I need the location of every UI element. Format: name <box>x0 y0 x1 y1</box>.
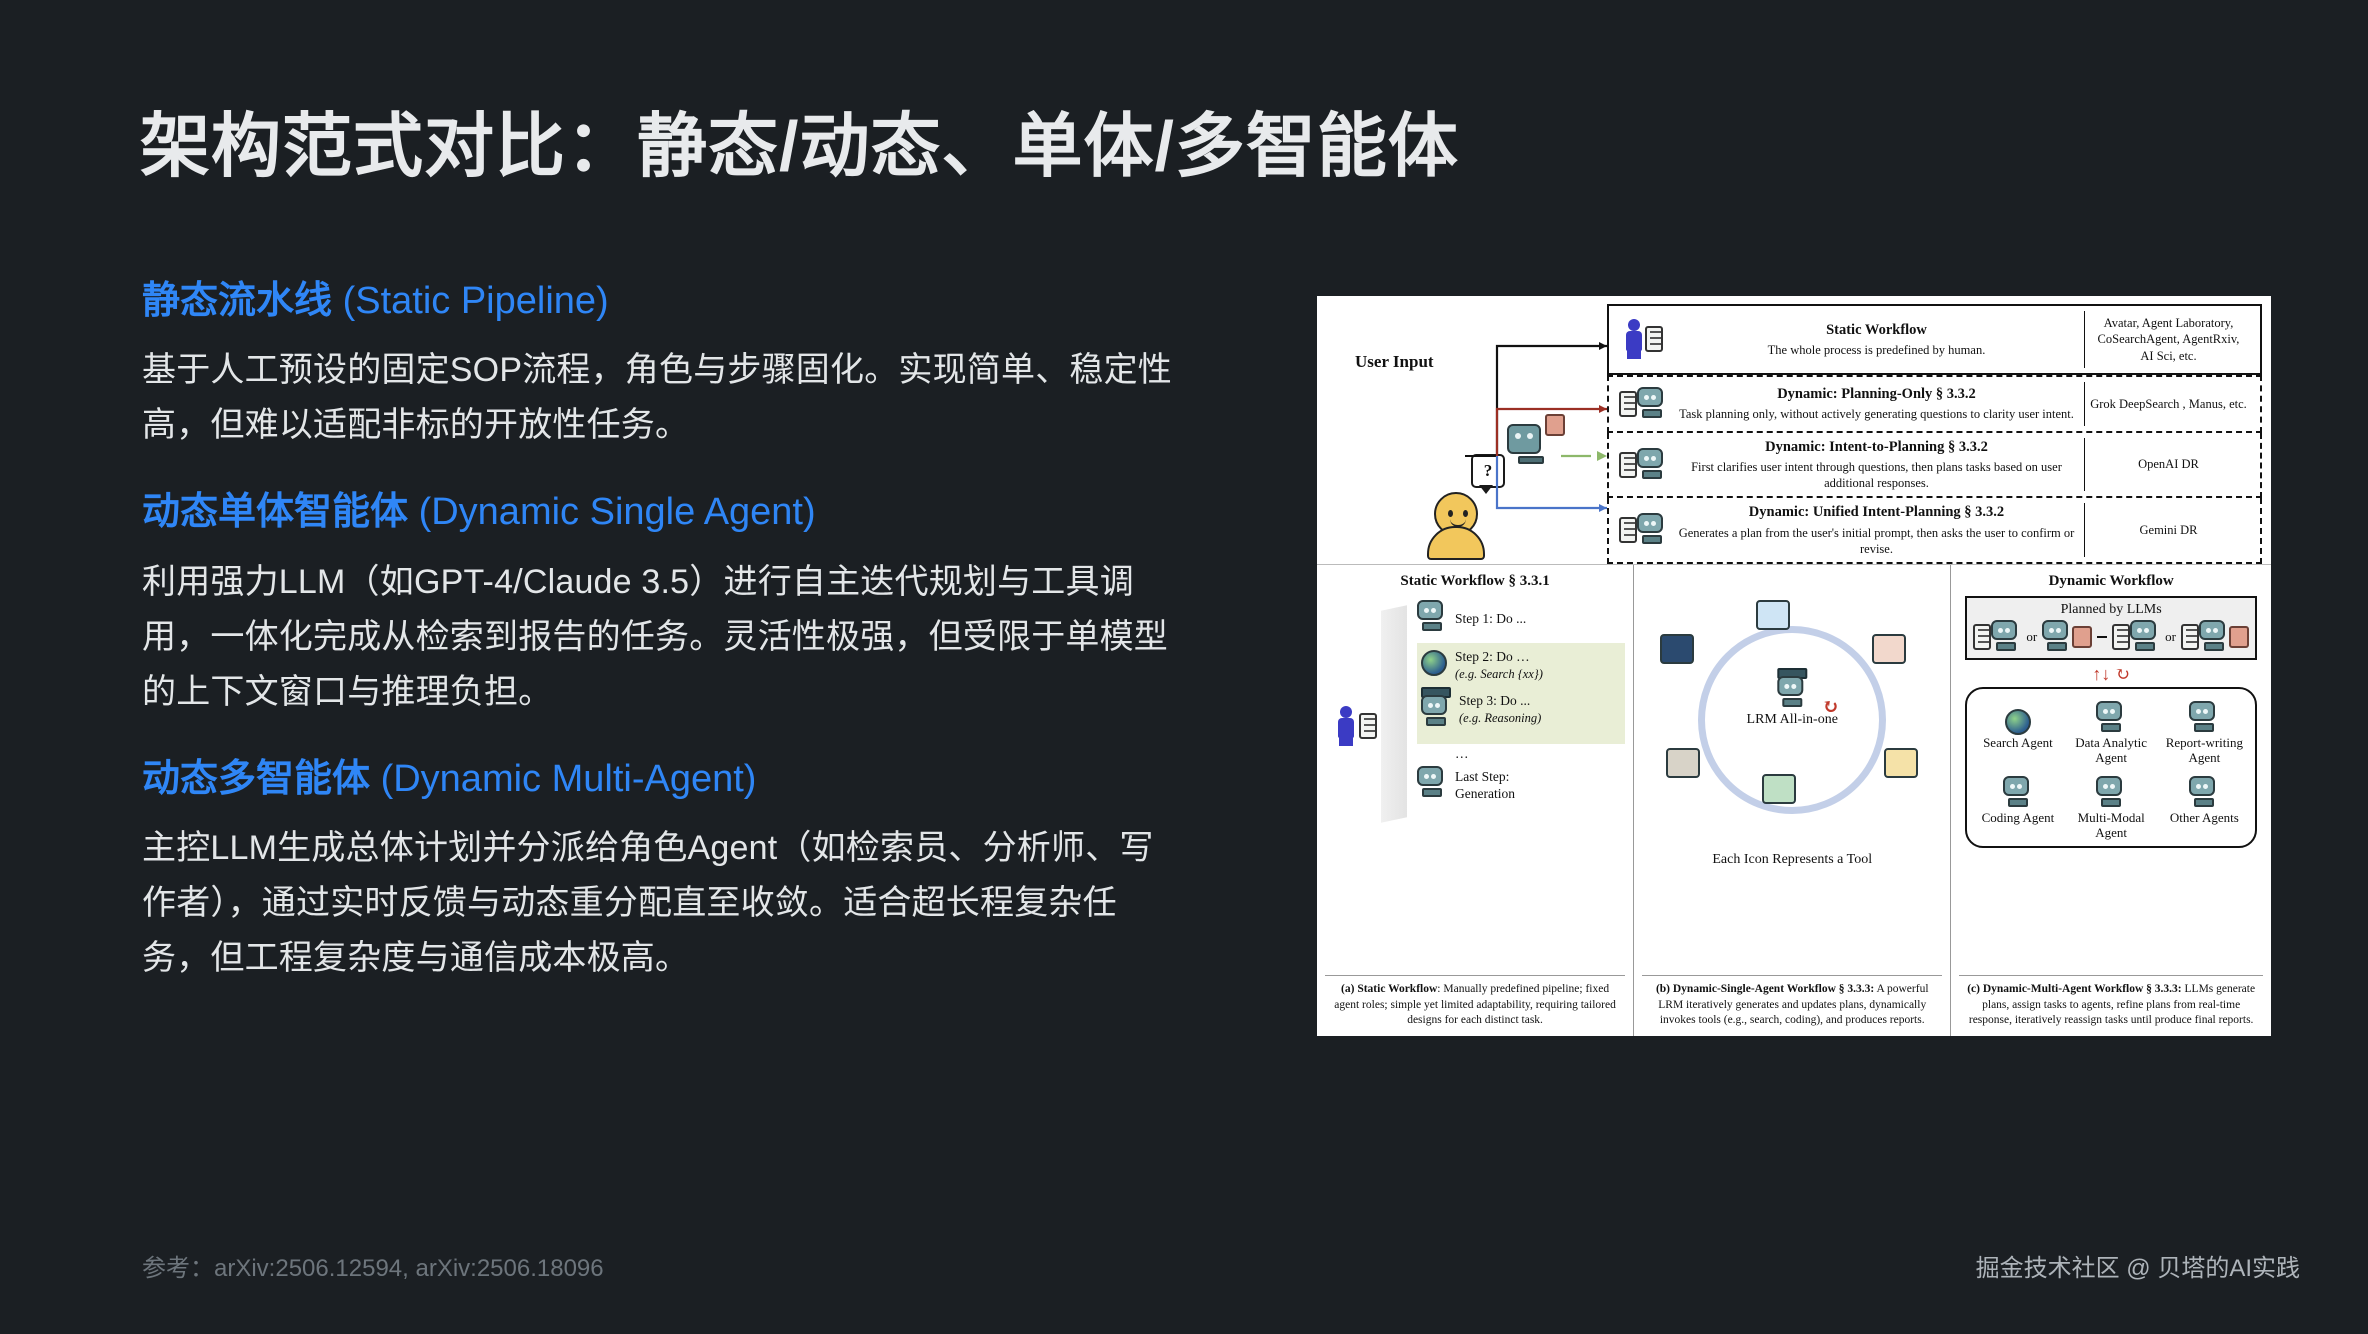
slide-root: 架构范式对比：静态/动态、单体/多智能体 静态流水线 (Static Pipel… <box>0 0 2368 1334</box>
globe-bot-icon <box>1971 695 2064 735</box>
web-search-tool-icon <box>1756 600 1790 630</box>
planner-tool-icon <box>1666 748 1700 778</box>
tools-bots-icon <box>2158 770 2251 810</box>
figure-top-region: User Input ? <box>1317 296 2271 564</box>
row-desc: The whole process is predefined by human… <box>1673 342 2080 358</box>
step-1: Step 1: Do ... <box>1417 600 1625 639</box>
row-desc: First clarifies user intent through ques… <box>1673 459 2080 492</box>
workflow-row-intent-to-planning: Dynamic: Intent-to-Planning § 3.3.2 Firs… <box>1607 433 2262 499</box>
agent-coding: Coding Agent <box>1971 770 2064 841</box>
panel-c-title: Dynamic Workflow <box>1959 573 2263 590</box>
section-heading: 静态流水线 (Static Pipeline) <box>142 276 1172 327</box>
agents-pool: Search Agent Data Analytic Agent <box>1965 687 2257 848</box>
section-static-pipeline: 静态流水线 (Static Pipeline) 基于人工预设的固定SOP流程，角… <box>142 276 1172 453</box>
section-dynamic-multi-agent: 动态多智能体 (Dynamic Multi-Agent) 主控LLM生成总体计划… <box>142 754 1172 987</box>
globe-search-bot-icon <box>1421 650 1447 681</box>
step-2-sublabel: (e.g. Search {xx}) <box>1455 667 1543 681</box>
refresh-loop-icon: ↻ <box>1822 694 1839 719</box>
last-step-line1: Last Step: <box>1455 769 1509 784</box>
row-title: Dynamic: Intent-to-Planning § 3.3.2 <box>1673 438 2080 456</box>
workflow-row-unified-intent-planning: Dynamic: Unified Intent-Planning § 3.3.2… <box>1607 498 2262 564</box>
row-examples: OpenAI DR <box>2084 438 2252 492</box>
section-dynamic-single-agent: 动态单体智能体 (Dynamic Single Agent) 利用强力LLM（如… <box>142 487 1172 720</box>
panel-a-title: Static Workflow § 3.3.1 <box>1325 573 1625 590</box>
typewriter-bot-icon <box>2158 695 2251 735</box>
clipboard-bot-note-icon <box>2181 620 2249 654</box>
section-heading-en: (Static Pipeline) <box>343 280 609 322</box>
panel-c-caption-label: (c) Dynamic-Multi-Agent Workflow § 3.3.3… <box>1967 983 2181 995</box>
step-3-sublabel: (e.g. Reasoning) <box>1459 711 1541 725</box>
note-bot-icon <box>2042 620 2092 654</box>
section-heading: 动态单体智能体 (Dynamic Single Agent) <box>142 487 1172 538</box>
clipboard-bot-note-icon <box>1617 513 1669 547</box>
typewriter-tool-icon <box>1660 634 1694 664</box>
row-examples: Grok DeepSearch , Manus, etc. <box>2084 382 2252 426</box>
section-heading-en: (Dynamic Single Agent) <box>419 491 816 533</box>
agent-multi-modal: Multi-Modal Agent <box>2065 770 2158 841</box>
graduate-bot-icon <box>1421 687 1451 734</box>
bidirectional-arrows-icon: ↑↓ ↻ <box>1959 664 2263 685</box>
workflow-row-planning-only: Dynamic: Planning-Only § 3.3.2 Task plan… <box>1607 375 2262 433</box>
panel-static-workflow: Static Workflow § 3.3.1 e.g., iterate N … <box>1317 565 1634 1036</box>
clipboard-bot-icon <box>1617 448 1669 482</box>
connector-lines <box>1317 296 1617 564</box>
step-3: Step 3: Do ... (e.g. Reasoning) <box>1421 687 1621 734</box>
calc-bot-icon <box>2065 695 2158 735</box>
section-body: 利用强力LLM（如GPT-4/Claude 3.5）进行自主迭代规划与工具调用，… <box>142 555 1172 720</box>
planner-box: Planned by LLMs or <box>1965 596 2257 660</box>
panel-c-body: Planned by LLMs or <box>1959 594 2263 975</box>
panel-c-caption: (c) Dynamic-Multi-Agent Workflow § 3.3.3… <box>1959 975 2263 1036</box>
row-examples: Gemini DR <box>2084 503 2252 557</box>
ellipsis-label: … <box>1455 746 1469 763</box>
step-2: Step 2: Do … (e.g. Search {xx}) <box>1421 649 1621 683</box>
section-heading-cn: 动态多智能体 <box>142 758 370 800</box>
agent-data-analytic: Data Analytic Agent <box>2065 695 2158 766</box>
row-title: Dynamic: Unified Intent-Planning § 3.3.2 <box>1673 503 2080 521</box>
panel-b-caption-label: (b) Dynamic-Single-Agent Workflow § 3.3.… <box>1656 983 1874 995</box>
data-analytics-tool-icon <box>1872 634 1906 664</box>
panel-a-caption: (a) Static Workflow: Manually predefined… <box>1325 975 1625 1036</box>
multimodal-tool-icon <box>1762 774 1796 804</box>
tool-bot-icon <box>1417 600 1447 639</box>
iterated-steps-group: Step 2: Do … (e.g. Search {xx}) <box>1417 643 1625 744</box>
workflow-rows: Static Workflow The whole process is pre… <box>1607 304 2262 564</box>
panel-dynamic-multi-agent: Dynamic Workflow Planned by LLMs or <box>1951 565 2271 1036</box>
footer-reference: 参考：arXiv:2506.12594, arXiv:2506.18096 <box>142 1248 604 1283</box>
step-3-label: Step 3: Do ... <box>1459 693 1530 708</box>
figure-bottom-region: Static Workflow § 3.3.1 e.g., iterate N … <box>1317 564 2271 1036</box>
row-examples: Avatar, Agent Laboratory, CoSearchAgent,… <box>2084 311 2252 368</box>
agent-search: Search Agent <box>1971 695 2064 766</box>
content-column: 静态流水线 (Static Pipeline) 基于人工预设的固定SOP流程，角… <box>142 276 1172 987</box>
agent-label: Report-writing Agent <box>2166 735 2243 765</box>
agent-label: Multi-Modal Agent <box>2078 810 2145 840</box>
agent-label: Other Agents <box>2170 810 2239 825</box>
or-label-2: or <box>2165 629 2176 645</box>
or-label-1: or <box>2026 629 2037 645</box>
laptop-bot-icon <box>1971 770 2064 810</box>
section-heading-cn: 动态单体智能体 <box>142 491 408 533</box>
workflow-row-static: Static Workflow The whole process is pre… <box>1607 304 2262 375</box>
section-body: 基于人工预设的固定SOP流程，角色与步骤固化。实现简单、稳定性高，但难以适配非标… <box>142 343 1172 453</box>
section-heading-cn: 静态流水线 <box>142 280 332 322</box>
section-body: 主控LLM生成总体计划并分派给角色Agent（如检索员、分析师、写作者），通过实… <box>142 821 1172 986</box>
architecture-figure: User Input ? <box>1317 296 2271 1036</box>
person-checklist-icon <box>1617 319 1669 359</box>
row-desc: Task planning only, without actively gen… <box>1673 406 2080 422</box>
step-2-label: Step 2: Do … <box>1455 649 1530 664</box>
coding-tool-icon <box>1884 748 1918 778</box>
step-ellipsis: … <box>1417 746 1625 763</box>
agent-label: Search Agent <box>1983 735 2053 750</box>
agent-other: Other Agents <box>2158 770 2251 841</box>
panel-dynamic-single-agent: LRM All-in-one ↻ Each Icon Represents a … <box>1634 565 1951 1036</box>
footer-attribution: 掘金技术社区 @ 贝塔的AI实践 <box>1976 1248 2300 1283</box>
last-step-line2: Generation <box>1455 786 1515 801</box>
section-heading-en: (Dynamic Multi-Agent) <box>381 758 757 800</box>
step-1-label: Step 1: Do ... <box>1455 611 1526 628</box>
clipboard-bot-icon <box>1617 387 1669 421</box>
row-desc: Generates a plan from the user's initial… <box>1673 525 2080 558</box>
section-heading: 动态多智能体 (Dynamic Multi-Agent) <box>142 754 1172 805</box>
agent-label: Coding Agent <box>1982 810 2055 825</box>
panel-b-caption: (b) Dynamic-Single-Agent Workflow § 3.3.… <box>1642 975 1942 1036</box>
clipboard-bot-icon <box>1973 620 2021 654</box>
row-title: Dynamic: Planning-Only § 3.3.2 <box>1673 385 2080 403</box>
step-last: Last Step: Generation <box>1417 766 1625 805</box>
planned-by-label: Planned by LLMs <box>1973 602 2249 618</box>
panel-b-body: LRM All-in-one ↻ Each Icon Represents a … <box>1642 594 1942 975</box>
agent-label: Data Analytic Agent <box>2075 735 2147 765</box>
page-title: 架构范式对比：静态/动态、单体/多智能体 <box>140 108 1459 185</box>
image-bot-icon <box>2065 770 2158 810</box>
clipboard-bot-icon <box>2112 620 2160 654</box>
tool-legend-note: Each Icon Represents a Tool <box>1642 852 1942 868</box>
row-title: Static Workflow <box>1673 321 2080 339</box>
typewriter-bot-icon <box>1417 766 1447 805</box>
panel-a-caption-label: (a) Static Workflow <box>1341 983 1437 995</box>
panel-a-body: e.g., iterate N times Step 1: Do ... <box>1325 594 1625 975</box>
agent-report-writing: Report-writing Agent <box>2158 695 2251 766</box>
